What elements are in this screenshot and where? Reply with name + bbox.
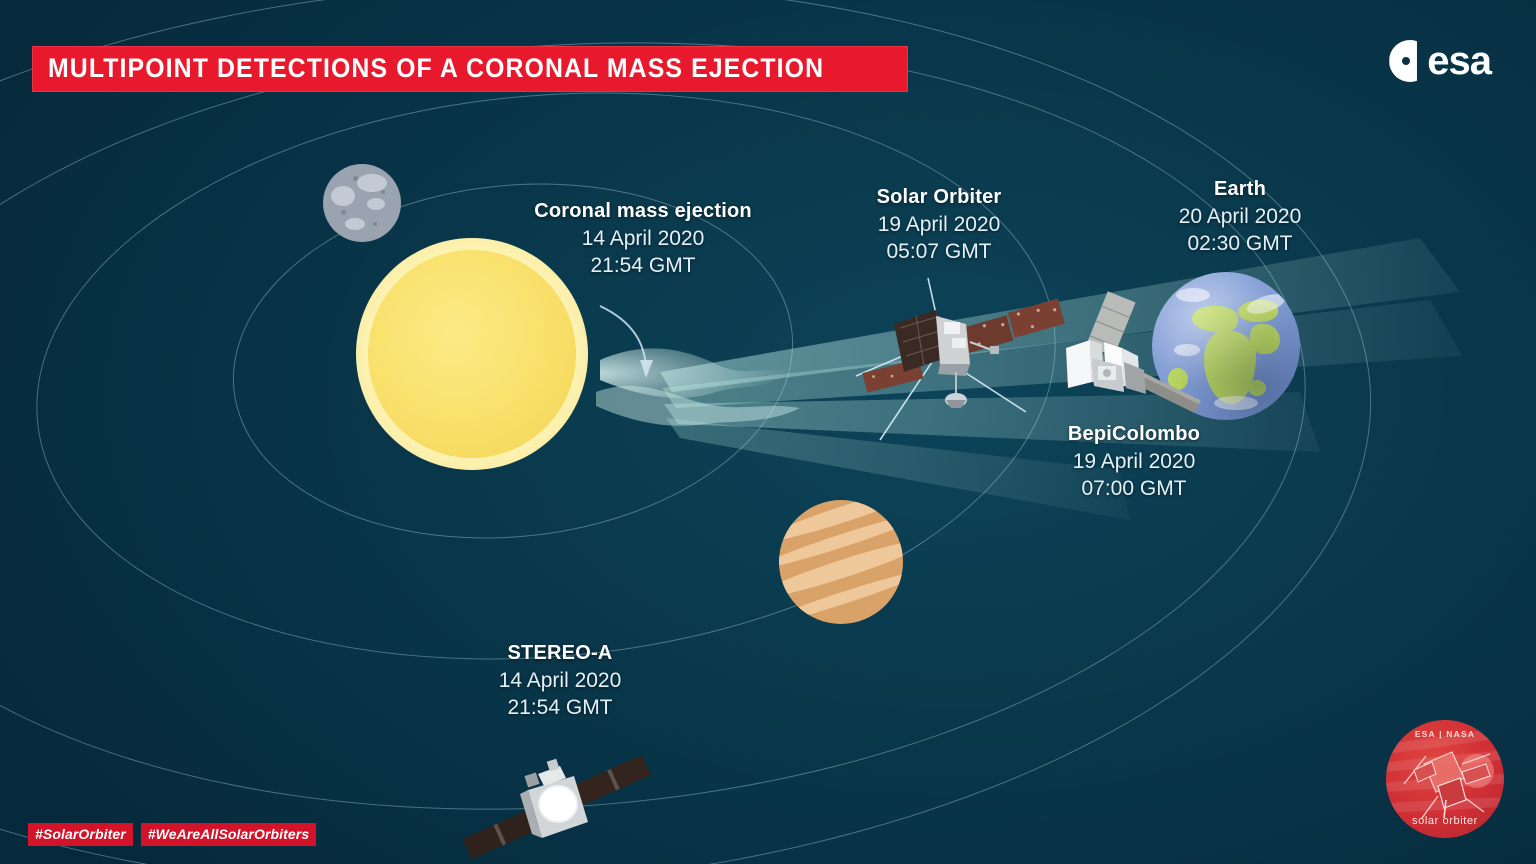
label-time: 02:30 GMT bbox=[1143, 230, 1337, 257]
solar-orbiter-mission-badge: ESA | NASA solar orbiter bbox=[1386, 720, 1504, 838]
mercury-planet bbox=[323, 164, 401, 242]
label-date: 20 April 2020 bbox=[1143, 203, 1337, 230]
venus-planet bbox=[779, 500, 903, 624]
label-earth: Earth 20 April 2020 02:30 GMT bbox=[1143, 176, 1337, 258]
label-heading: Solar Orbiter bbox=[840, 184, 1038, 210]
label-date: 14 April 2020 bbox=[528, 225, 758, 252]
esa-wordmark: esa bbox=[1427, 41, 1491, 81]
esa-mark-icon bbox=[1389, 40, 1431, 82]
label-heading: BepiColombo bbox=[1036, 421, 1232, 447]
badge-top-text: ESA | NASA bbox=[1386, 729, 1504, 739]
label-heading: Coronal mass ejection bbox=[528, 198, 758, 224]
label-heading: Earth bbox=[1143, 176, 1337, 202]
label-heading: STEREO-A bbox=[460, 640, 660, 666]
label-time: 07:00 GMT bbox=[1036, 475, 1232, 502]
label-stereo-a: STEREO-A 14 April 2020 21:54 GMT bbox=[460, 640, 660, 722]
label-coronal-mass-ejection: Coronal mass ejection 14 April 2020 21:5… bbox=[528, 198, 758, 280]
esa-logo: esa bbox=[1389, 40, 1491, 82]
hashtag-group: #SolarOrbiter #WeAreAllSolarOrbiters bbox=[28, 823, 316, 846]
bepicolombo-spacecraft bbox=[1046, 286, 1206, 426]
label-bepicolombo: BepiColombo 19 April 2020 07:00 GMT bbox=[1036, 421, 1232, 503]
label-date: 19 April 2020 bbox=[840, 211, 1038, 238]
badge-bottom-text: solar orbiter bbox=[1386, 815, 1504, 827]
label-date: 14 April 2020 bbox=[460, 667, 660, 694]
page-title-text: MULTIPOINT DETECTIONS OF A CORONAL MASS … bbox=[48, 55, 824, 82]
stereo-a-spacecraft bbox=[452, 738, 662, 864]
infographic-canvas: Coronal mass ejection 14 April 2020 21:5… bbox=[0, 0, 1536, 864]
page-title: MULTIPOINT DETECTIONS OF A CORONAL MASS … bbox=[32, 46, 908, 92]
hashtag-solar-orbiter[interactable]: #SolarOrbiter bbox=[28, 823, 133, 846]
sun-core bbox=[368, 250, 576, 458]
label-time: 21:54 GMT bbox=[460, 694, 660, 721]
label-time: 05:07 GMT bbox=[840, 238, 1038, 265]
label-time: 21:54 GMT bbox=[528, 252, 758, 279]
hashtag-we-are-all-solar-orbiters[interactable]: #WeAreAllSolarOrbiters bbox=[141, 823, 316, 846]
label-date: 19 April 2020 bbox=[1036, 448, 1232, 475]
label-solar-orbiter: Solar Orbiter 19 April 2020 05:07 GMT bbox=[840, 184, 1038, 266]
